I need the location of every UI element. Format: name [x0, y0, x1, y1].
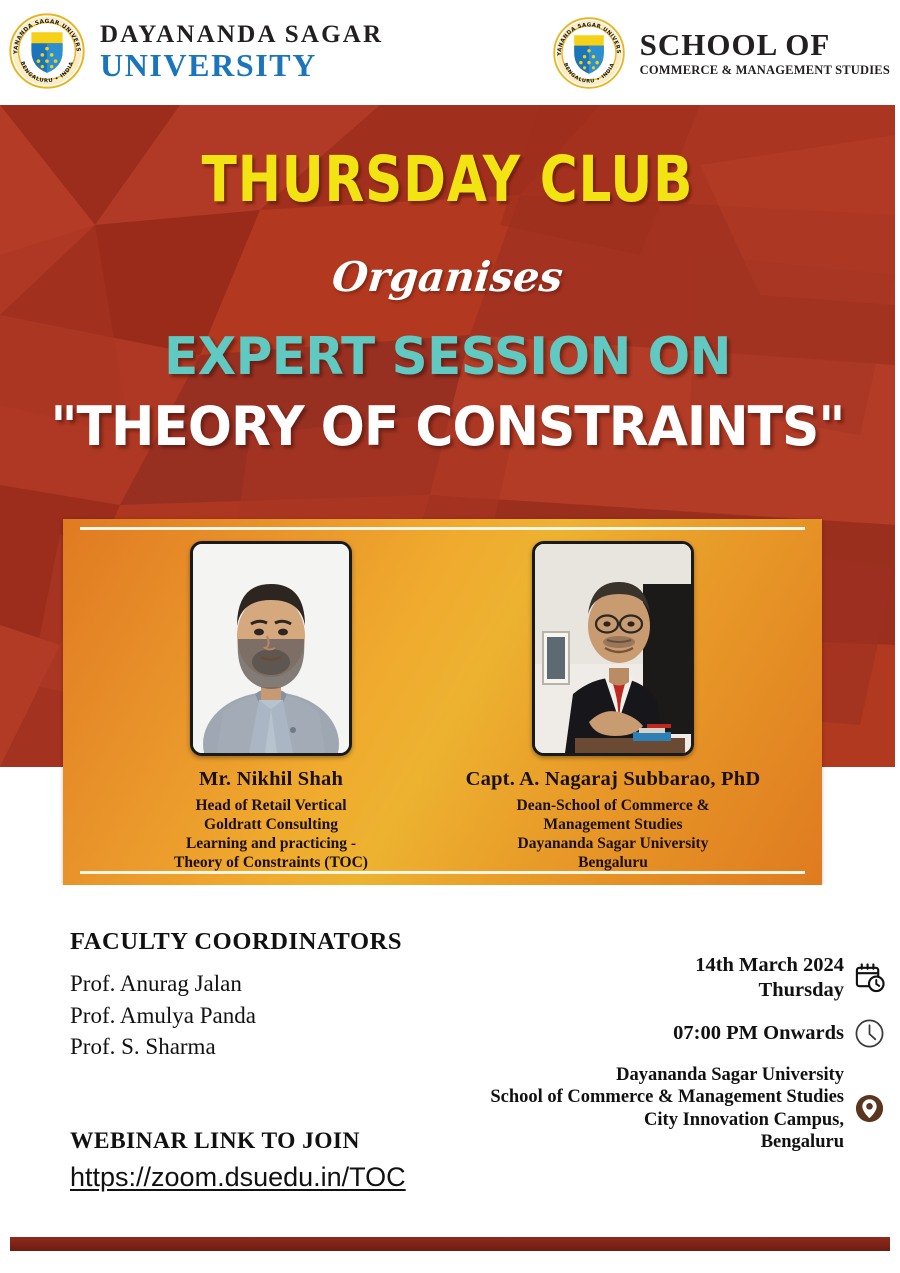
webinar-link[interactable]: https://zoom.dsuedu.in/TOC	[70, 1162, 406, 1193]
school-seal-icon: DAYANANDA SAGAR UNIVERSITY BENGALURU • I…	[552, 16, 626, 90]
school-logo-block: DAYANANDA SAGAR UNIVERSITY BENGALURU • I…	[552, 16, 890, 90]
organises-label: Organises	[0, 253, 895, 301]
faculty-coordinators: FACULTY COORDINATORS Prof. Anurag Jalan …	[70, 928, 402, 1063]
webinar-block: WEBINAR LINK TO JOIN https://zoom.dsuedu…	[70, 1128, 406, 1193]
calendar-clock-icon	[852, 961, 886, 995]
coordinator-item: Prof. S. Sharma	[70, 1031, 402, 1063]
club-title: THURSDAY CLUB	[81, 143, 815, 216]
coordinators-title: FACULTY COORDINATORS	[70, 928, 402, 956]
speaker-name-1: Mr. Nikhil Shah	[121, 768, 421, 791]
event-venue-text: Dayananda Sagar University School of Com…	[490, 1064, 844, 1153]
speaker-card-1: Mr. Nikhil Shah Head of Retail Vertical …	[121, 541, 421, 873]
coordinators-list: Prof. Anurag Jalan Prof. Amulya Panda Pr…	[70, 968, 402, 1063]
event-date: 14th March 2024	[695, 954, 844, 976]
speaker-detail-line: Goldratt Consulting	[121, 816, 421, 835]
speaker-detail-line: Dayananda Sagar University	[463, 835, 763, 854]
university-name-line2: UNIVERSITY	[100, 49, 383, 81]
venue-line: School of Commerce & Management Studies	[490, 1086, 844, 1108]
speaker-card-2: Capt. A. Nagaraj Subbarao, PhD Dean-Scho…	[463, 541, 763, 873]
location-pin-icon	[852, 1092, 886, 1126]
coordinator-item: Prof. Anurag Jalan	[70, 968, 402, 1000]
university-logo-block: DAYANANDA SAGAR UNIVERSITY BENGALURU • I…	[8, 12, 383, 90]
speaker-detail-line: Dean-School of Commerce &	[463, 797, 763, 816]
venue-line: Dayananda Sagar University	[490, 1064, 844, 1086]
poster-header: DAYANANDA SAGAR UNIVERSITY BENGALURU • I…	[0, 0, 900, 105]
venue-line: Bengaluru	[490, 1131, 844, 1153]
speaker-detail-line: Head of Retail Vertical	[121, 797, 421, 816]
speaker-detail-line: Management Studies	[463, 816, 763, 835]
coordinator-item: Prof. Amulya Panda	[70, 1000, 402, 1032]
poster-root: DAYANANDA SAGAR UNIVERSITY BENGALURU • I…	[0, 0, 900, 1273]
footer-accent-bar	[10, 1237, 890, 1251]
speaker-detail-line: Learning and practicing -	[121, 835, 421, 854]
event-details: 14th March 2024 Thursday 07	[416, 953, 886, 1167]
school-name-line2: COMMERCE & MANAGEMENT STUDIES	[640, 63, 890, 78]
speaker-photo-1	[190, 541, 352, 756]
session-title-line2: "THEORY OF CONSTRAINTS"	[18, 395, 877, 458]
webinar-label: WEBINAR LINK TO JOIN	[70, 1128, 406, 1155]
speaker-name-2: Capt. A. Nagaraj Subbarao, PhD	[463, 768, 763, 791]
event-day: Thursday	[695, 978, 844, 1003]
speaker-detail-line: Theory of Constraints (TOC)	[121, 854, 421, 873]
dsu-seal-icon: DAYANANDA SAGAR UNIVERSITY BENGALURU • I…	[8, 12, 86, 90]
university-name-line1: DAYANANDA SAGAR	[100, 22, 383, 47]
school-name-line1: SCHOOL OF	[640, 29, 890, 60]
event-venue-row: Dayananda Sagar University School of Com…	[416, 1064, 886, 1153]
speaker-photo-2	[532, 541, 694, 756]
speakers-card: Mr. Nikhil Shah Head of Retail Vertical …	[63, 519, 822, 885]
event-date-row: 14th March 2024 Thursday	[416, 953, 886, 1002]
event-time-text: 07:00 PM Onwards	[673, 1021, 844, 1046]
session-title-line1: EXPERT SESSION ON	[18, 327, 877, 387]
poster-footer-section: FACULTY COORDINATORS Prof. Anurag Jalan …	[0, 885, 900, 1273]
speaker-detail-line: Bengaluru	[463, 854, 763, 873]
event-time-row: 07:00 PM Onwards	[416, 1016, 886, 1050]
speaker-detail-1: Head of Retail Vertical Goldratt Consult…	[121, 797, 421, 873]
card-top-rule	[80, 527, 805, 530]
university-name: DAYANANDA SAGAR UNIVERSITY	[100, 22, 383, 81]
clock-icon	[852, 1016, 886, 1050]
venue-line: City Innovation Campus,	[490, 1109, 844, 1131]
speaker-detail-2: Dean-School of Commerce & Management Stu…	[463, 797, 763, 873]
school-name: SCHOOL OF COMMERCE & MANAGEMENT STUDIES	[640, 29, 890, 78]
event-date-text: 14th March 2024 Thursday	[695, 953, 844, 1002]
